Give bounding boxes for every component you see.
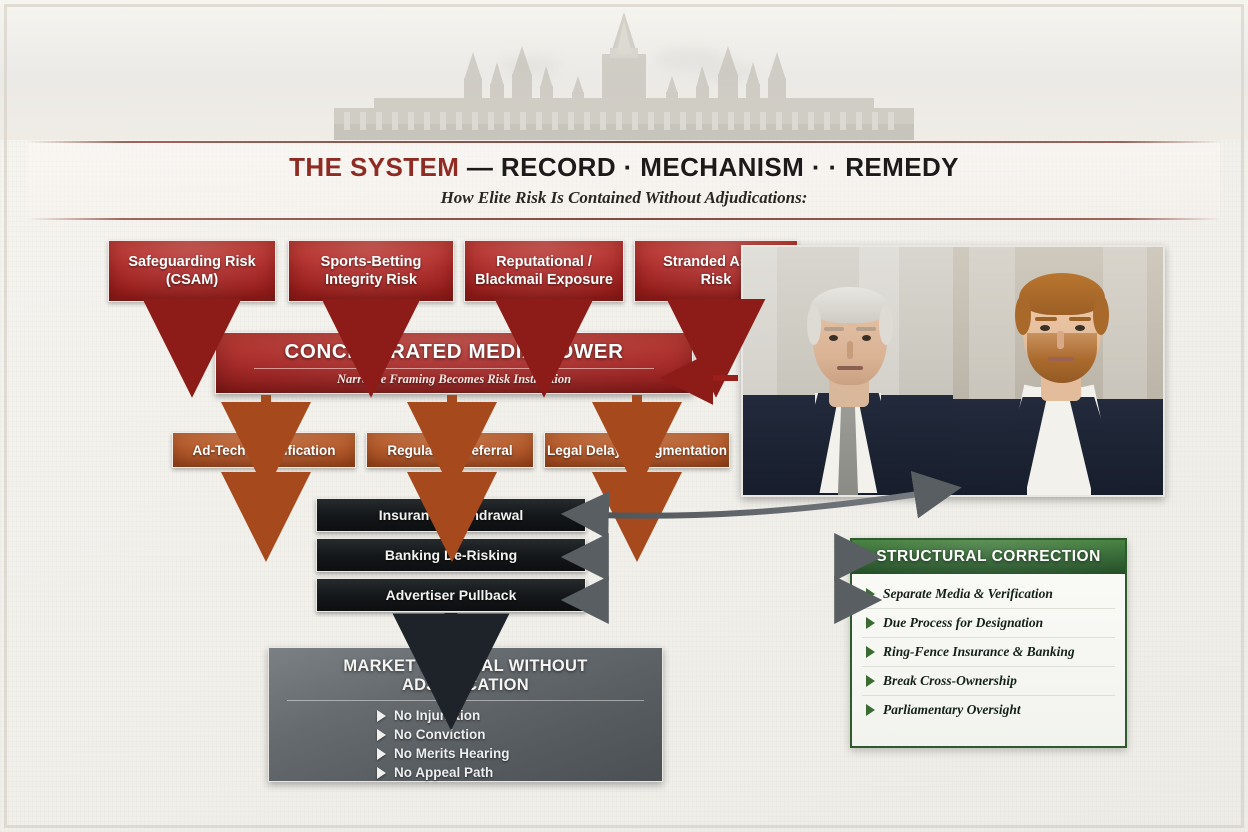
- correction-item-due-process[interactable]: Due Process for Designation: [862, 609, 1115, 638]
- risk-card-reputational[interactable]: Reputational / Blackmail Exposure: [464, 240, 624, 302]
- correction-item-break-cross-ownership[interactable]: Break Cross-Ownership: [862, 667, 1115, 696]
- removal-item-label: No Injunction: [394, 708, 480, 723]
- correction-item-parliamentary-oversight[interactable]: Parliamentary Oversight: [862, 696, 1115, 724]
- correction-item-label: Separate Media & Verification: [883, 586, 1053, 602]
- photo-left-subject: [743, 247, 953, 495]
- removal-item-no-appeal-path: No Appeal Path: [377, 765, 650, 780]
- mechanism-card-label: Ad-Tech & Verification: [192, 443, 335, 458]
- risk-card-line2: Integrity Risk: [325, 271, 417, 289]
- risk-card-line2: Blackmail Exposure: [475, 271, 613, 289]
- outcome-bar-label: Banking De-Risking: [385, 547, 517, 563]
- mechanism-card-legal-delay[interactable]: Legal Delay / Fragmentation: [544, 432, 730, 468]
- title-rule-bottom: [28, 218, 1220, 220]
- removal-item-label: No Conviction: [394, 727, 486, 742]
- two-men-photo: [741, 245, 1165, 497]
- risk-card-line1: Reputational /: [496, 253, 592, 271]
- mechanism-card-regulatory-deferral[interactable]: Regulatory Deferral: [366, 432, 534, 468]
- page-title-rest: — RECORD · MECHANISM · · REMEDY: [459, 152, 959, 182]
- palace-of-westminster-icon: [314, 12, 934, 140]
- removal-item-no-injunction: No Injunction: [377, 708, 650, 723]
- risk-card-sports-betting[interactable]: Sports-Betting Integrity Risk: [288, 240, 454, 302]
- correction-item-label: Due Process for Designation: [883, 615, 1043, 631]
- structural-correction-panel[interactable]: STRUCTURAL CORRECTION Separate Media & V…: [850, 538, 1127, 748]
- market-removal-title: MARKET REMOVAL WITHOUT ADJUDICATION: [281, 657, 650, 695]
- photo-right-subject: [953, 247, 1163, 495]
- triangle-bullet-icon: [377, 767, 386, 779]
- removal-item-label: No Appeal Path: [394, 765, 493, 780]
- outcome-bar-insurance-withdrawal[interactable]: Insurance Withdrawal: [316, 498, 586, 532]
- structural-correction-list: Separate Media & Verification Due Proces…: [852, 574, 1125, 728]
- media-power-divider: [254, 368, 654, 369]
- triangle-bullet-icon: [377, 729, 386, 741]
- media-power-title: CONCENTRATED MEDIA POWER: [285, 340, 624, 364]
- correction-item-ring-fence[interactable]: Ring-Fence Insurance & Banking: [862, 638, 1115, 667]
- triangle-bullet-icon: [377, 748, 386, 760]
- triangle-bullet-icon: [866, 646, 875, 658]
- page-subtitle: How Elite Risk Is Contained Without Adju…: [0, 188, 1248, 208]
- removal-item-no-conviction: No Conviction: [377, 727, 650, 742]
- mechanism-card-ad-tech[interactable]: Ad-Tech & Verification: [172, 432, 356, 468]
- removal-item-label: No Merits Hearing: [394, 746, 510, 761]
- risk-card-line1: Safeguarding Risk: [128, 253, 255, 271]
- risk-card-safeguarding[interactable]: Safeguarding Risk (CSAM): [108, 240, 276, 302]
- page-title: THE SYSTEM — RECORD · MECHANISM · · REME…: [0, 152, 1248, 183]
- correction-item-label: Break Cross-Ownership: [883, 673, 1017, 689]
- outcome-bar-label: Insurance Withdrawal: [379, 507, 524, 523]
- triangle-bullet-icon: [866, 588, 875, 600]
- risk-card-line2: Risk: [701, 271, 732, 289]
- risk-card-line1: Sports-Betting: [321, 253, 422, 271]
- triangle-bullet-icon: [866, 617, 875, 629]
- infographic-canvas: THE SYSTEM — RECORD · MECHANISM · · REME…: [0, 0, 1248, 832]
- mechanism-card-label: Regulatory Deferral: [387, 443, 512, 458]
- concentrated-media-power-card[interactable]: CONCENTRATED MEDIA POWER Narrative Frami…: [215, 332, 693, 394]
- triangle-bullet-icon: [866, 675, 875, 687]
- page-title-accent: THE SYSTEM: [289, 152, 459, 182]
- market-removal-panel[interactable]: MARKET REMOVAL WITHOUT ADJUDICATION No I…: [268, 647, 663, 782]
- outcome-bar-advertiser-pullback[interactable]: Advertiser Pullback: [316, 578, 586, 612]
- correction-item-label: Parliamentary Oversight: [883, 702, 1021, 718]
- correction-item-separate-media[interactable]: Separate Media & Verification: [862, 580, 1115, 609]
- mechanism-card-label: Legal Delay / Fragmentation: [547, 443, 727, 458]
- market-removal-divider: [287, 700, 644, 701]
- triangle-bullet-icon: [377, 710, 386, 722]
- outcome-bar-banking-derisking[interactable]: Banking De-Risking: [316, 538, 586, 572]
- correction-item-label: Ring-Fence Insurance & Banking: [883, 644, 1075, 660]
- header-banner: [0, 0, 1248, 140]
- outcome-bar-label: Advertiser Pullback: [386, 587, 517, 603]
- media-power-subtitle: Narrative Framing Becomes Risk Instructi…: [337, 372, 571, 387]
- removal-item-no-merits-hearing: No Merits Hearing: [377, 746, 650, 761]
- triangle-bullet-icon: [866, 704, 875, 716]
- structural-correction-title: STRUCTURAL CORRECTION: [852, 540, 1125, 574]
- risk-card-line2: (CSAM): [166, 271, 218, 289]
